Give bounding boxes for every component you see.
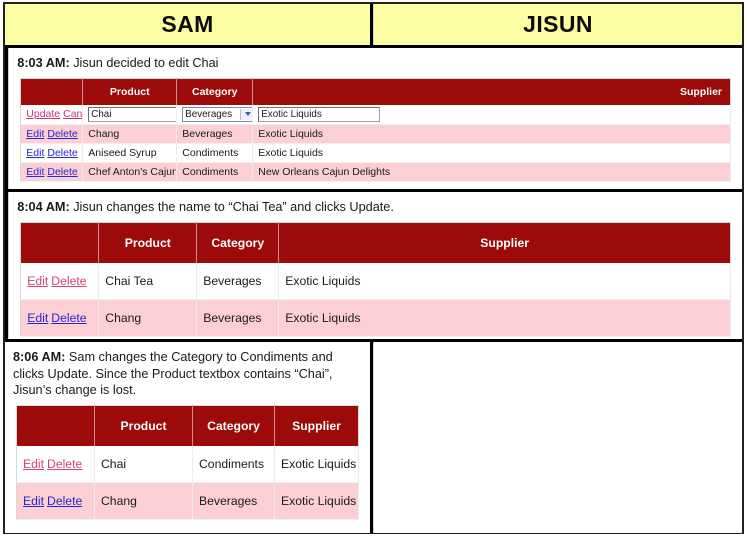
cell-product: Chai Tea bbox=[99, 263, 197, 300]
update-link[interactable]: Update bbox=[26, 108, 60, 120]
caption-text-jisun-804: Jisun changes the name to “Chai Tea” and… bbox=[70, 200, 394, 214]
edit-link[interactable]: Edit bbox=[26, 147, 44, 159]
cell-category: Beverages bbox=[197, 263, 279, 300]
table-header-row: Product Category Supplier bbox=[21, 222, 731, 263]
cell-category: Beverages bbox=[197, 299, 279, 336]
cell-jisun-803: 8:03 AM: Jisun decided to edit Chai Prod… bbox=[8, 48, 742, 189]
table-header-row: Product Category Supplier bbox=[17, 405, 359, 446]
cell-product: Aniseed Syrup bbox=[83, 143, 177, 162]
edit-link[interactable]: Edit bbox=[26, 128, 44, 140]
screenshot-root: SAM JISUN 8:00 AM: Sam decided to edit C… bbox=[0, 0, 747, 538]
delete-link[interactable]: Delete bbox=[47, 494, 82, 508]
caption-jisun-803: 8:03 AM: Jisun decided to edit Chai bbox=[17, 55, 734, 72]
cell-supplier: Exotic Liquids bbox=[253, 124, 731, 143]
cell-product-input: Chai bbox=[83, 105, 177, 125]
th-supplier: Supplier bbox=[275, 405, 359, 446]
cell-actions: EditDelete bbox=[21, 263, 99, 300]
cell-category: Beverages bbox=[177, 124, 253, 143]
edit-link[interactable]: Edit bbox=[27, 274, 48, 288]
gridview-wrap-jisun-803: Product Category Supplier UpdateCancel bbox=[20, 78, 731, 182]
cell-category: Beverages bbox=[193, 482, 275, 519]
gridview-jisun-803: Product Category Supplier UpdateCancel bbox=[20, 78, 731, 182]
category-dropdown[interactable]: Beverages bbox=[182, 107, 253, 122]
cell-actions: EditDelete bbox=[21, 124, 83, 143]
cell-sam-806: 8:06 AM: Sam changes the Category to Con… bbox=[5, 342, 373, 533]
comparison-table-frame: SAM JISUN 8:00 AM: Sam decided to edit C… bbox=[3, 2, 744, 534]
cell-product: Chai bbox=[95, 446, 193, 483]
delete-link[interactable]: Delete bbox=[47, 128, 77, 140]
caption-jisun-804: 8:04 AM: Jisun changes the name to “Chai… bbox=[17, 199, 734, 216]
table-row: EditDelete Chef Anton's Cajun Condiments… bbox=[21, 162, 731, 181]
edit-link[interactable]: Edit bbox=[23, 457, 44, 471]
cell-actions: EditDelete bbox=[21, 162, 83, 181]
th-product: Product bbox=[83, 78, 177, 105]
column-header-row: SAM JISUN bbox=[5, 4, 742, 45]
table-row: EditDelete Aniseed Syrup Condiments Exot… bbox=[21, 143, 731, 162]
caption-text-jisun-803: Jisun decided to edit Chai bbox=[70, 56, 219, 70]
delete-link[interactable]: Delete bbox=[47, 147, 77, 159]
cell-supplier: Exotic Liquids bbox=[275, 446, 359, 483]
th-supplier: Supplier bbox=[279, 222, 731, 263]
th-product: Product bbox=[99, 222, 197, 263]
th-action bbox=[17, 405, 95, 446]
th-action bbox=[21, 78, 83, 105]
cell-product: Chang bbox=[83, 124, 177, 143]
table-header-row: Product Category Supplier bbox=[21, 78, 731, 105]
cell-jisun-empty bbox=[373, 342, 742, 533]
table-row-edit: UpdateCancel Chai Beverages bbox=[21, 105, 731, 125]
cell-actions: EditDelete bbox=[17, 446, 95, 483]
cell-supplier: New Orleans Cajun Delights bbox=[253, 162, 731, 181]
gridview-wrap-sam-806: Product Category Supplier EditDelete bbox=[16, 405, 359, 520]
cell-supplier: Exotic Liquids bbox=[275, 482, 359, 519]
cell-supplier: Exotic Liquids bbox=[279, 263, 731, 300]
table-row: EditDelete Chang Beverages Exotic Liquid… bbox=[17, 482, 359, 519]
gridview-sam-806: Product Category Supplier EditDelete bbox=[16, 405, 359, 520]
table-row: EditDelete Chai Tea Beverages Exotic Liq… bbox=[21, 263, 731, 300]
chevron-down-icon[interactable] bbox=[240, 109, 253, 120]
caption-sam-806: 8:06 AM: Sam changes the Category to Con… bbox=[13, 349, 362, 399]
cancel-link[interactable]: Cancel bbox=[63, 108, 83, 120]
timeline-grid: 8:00 AM: Sam decided to edit Chai Produc… bbox=[5, 45, 742, 532]
product-textbox[interactable]: Chai bbox=[88, 107, 177, 122]
cell-product: Chang bbox=[95, 482, 193, 519]
th-category: Category bbox=[177, 78, 253, 105]
delete-link[interactable]: Delete bbox=[51, 311, 86, 325]
supplier-textbox[interactable]: Exotic Liquids bbox=[258, 107, 380, 122]
cell-product: Chang bbox=[99, 299, 197, 336]
cell-actions: EditDelete bbox=[21, 299, 99, 336]
th-action bbox=[21, 222, 99, 263]
table-row: EditDelete Chang Beverages Exotic Liquid… bbox=[21, 124, 731, 143]
table-row: EditDelete Chang Beverages Exotic Liquid… bbox=[21, 299, 731, 336]
timestamp-sam-806: 8:06 AM: bbox=[13, 350, 65, 364]
th-category: Category bbox=[193, 405, 275, 446]
timestamp-jisun-803: 8:03 AM: bbox=[17, 56, 69, 70]
category-dropdown-value: Beverages bbox=[185, 109, 232, 120]
cell-actions: EditDelete bbox=[21, 143, 83, 162]
edit-link[interactable]: Edit bbox=[26, 166, 44, 178]
edit-link[interactable]: Edit bbox=[27, 311, 48, 325]
table-row: EditDelete Chai Condiments Exotic Liquid… bbox=[17, 446, 359, 483]
edit-link[interactable]: Edit bbox=[23, 494, 44, 508]
cell-category: Condiments bbox=[177, 162, 253, 181]
column-header-sam: SAM bbox=[5, 4, 373, 45]
th-supplier: Supplier bbox=[253, 78, 731, 105]
delete-link[interactable]: Delete bbox=[47, 457, 82, 471]
timeline-row-2: 8:04 AM: Jisun changes the name to “Chai… bbox=[5, 192, 742, 342]
delete-link[interactable]: Delete bbox=[51, 274, 86, 288]
cell-supplier-input: Exotic Liquids bbox=[253, 105, 731, 125]
cell-category-select: Beverages bbox=[177, 105, 253, 125]
cell-actions: UpdateCancel bbox=[21, 105, 83, 125]
cell-product: Chef Anton's Cajun bbox=[83, 162, 177, 181]
th-category: Category bbox=[197, 222, 279, 263]
gridview-wrap-jisun-804: Product Category Supplier EditDelete bbox=[20, 222, 731, 337]
timeline-row-3: 8:06 AM: Sam changes the Category to Con… bbox=[5, 342, 742, 533]
cell-category: Condiments bbox=[193, 446, 275, 483]
timeline-row-1: 8:00 AM: Sam decided to edit Chai Produc… bbox=[5, 48, 742, 192]
delete-link[interactable]: Delete bbox=[47, 166, 77, 178]
cell-supplier: Exotic Liquids bbox=[253, 143, 731, 162]
cell-supplier: Exotic Liquids bbox=[279, 299, 731, 336]
timestamp-jisun-804: 8:04 AM: bbox=[17, 200, 69, 214]
th-product: Product bbox=[95, 405, 193, 446]
column-header-jisun: JISUN bbox=[373, 4, 742, 45]
gridview-jisun-804: Product Category Supplier EditDelete bbox=[20, 222, 731, 337]
cell-jisun-804: 8:04 AM: Jisun changes the name to “Chai… bbox=[8, 192, 742, 339]
cell-category: Condiments bbox=[177, 143, 253, 162]
cell-actions: EditDelete bbox=[17, 482, 95, 519]
